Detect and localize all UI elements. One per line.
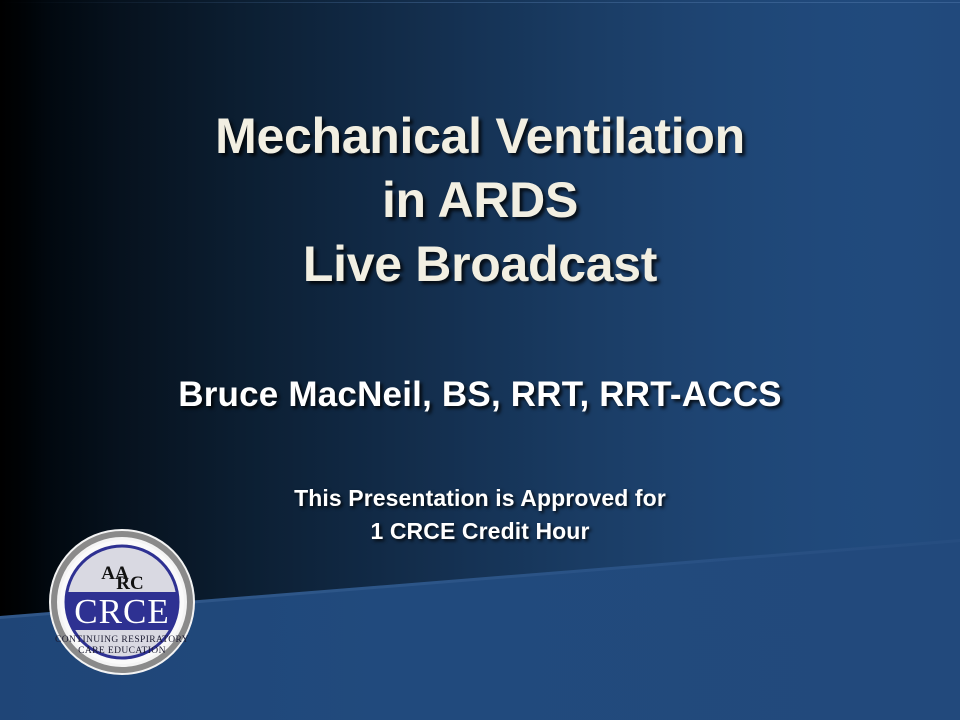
title-line-3: Live Broadcast (0, 232, 960, 296)
top-edge-hairline (0, 2, 960, 3)
crce-tagline-line2: CARE EDUCATION (78, 646, 166, 656)
crce-acronym: CRCE (74, 592, 169, 631)
credit-line-1: This Presentation is Approved for (0, 482, 960, 515)
aarc-mono-right: RC (116, 573, 143, 594)
title-line-1: Mechanical Ventilation (0, 104, 960, 168)
title-line-2: in ARDS (0, 168, 960, 232)
crce-seal-icon: AA RC CRCE CONTINUING RESPIRATORY CARE E… (47, 527, 197, 677)
presenter-name: Bruce MacNeil, BS, RRT, RRT-ACCS (0, 372, 960, 418)
crce-logo: AA RC CRCE CONTINUING RESPIRATORY CARE E… (47, 527, 197, 677)
crce-tagline-line1: CONTINUING RESPIRATORY (55, 635, 189, 645)
presentation-slide: Mechanical Ventilation in ARDS Live Broa… (0, 0, 960, 720)
slide-title: Mechanical Ventilation in ARDS Live Broa… (0, 104, 960, 296)
